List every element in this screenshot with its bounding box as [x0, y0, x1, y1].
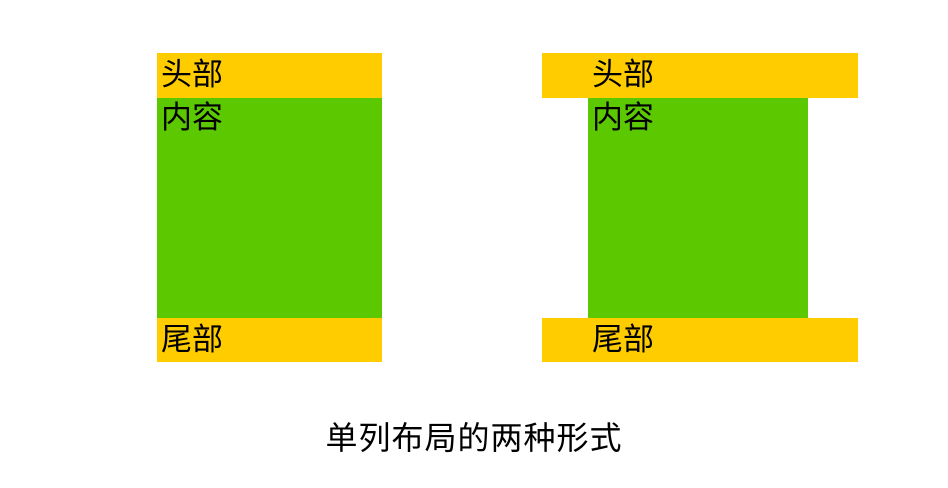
- right-figure-header-label: 头部: [588, 60, 654, 91]
- diagram-canvas: 头部 内容 尾部 头部 内容 尾部 单列布局的两种形式: [0, 0, 948, 488]
- right-figure-footer-block: 尾部: [542, 318, 858, 362]
- left-figure-content-block: 内容: [157, 98, 382, 318]
- left-figure-footer-label: 尾部: [157, 325, 223, 356]
- left-figure-header-label: 头部: [157, 60, 223, 91]
- right-figure-content-block: 内容: [588, 98, 808, 318]
- left-figure-header-block: 头部: [157, 53, 382, 98]
- left-figure-footer-block: 尾部: [157, 318, 382, 362]
- diagram-caption: 单列布局的两种形式: [0, 414, 948, 462]
- left-figure-content-label: 内容: [157, 103, 223, 134]
- right-figure-footer-label: 尾部: [588, 325, 654, 356]
- right-figure-header-block: 头部: [542, 53, 858, 98]
- right-figure-content-label: 内容: [588, 103, 654, 134]
